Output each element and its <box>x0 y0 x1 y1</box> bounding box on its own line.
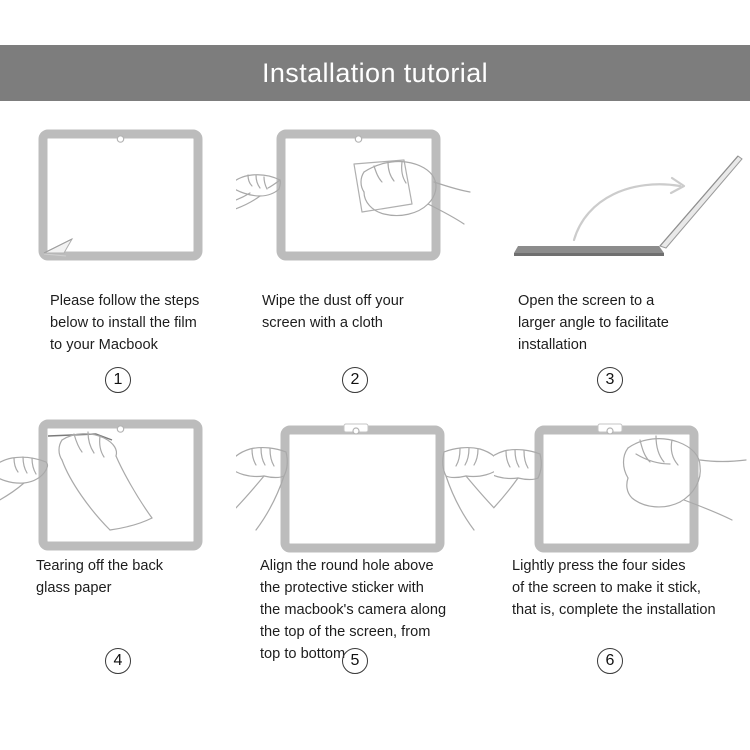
hand-pressing-film-onto-screen-icon <box>494 410 750 555</box>
tutorial-page: Installation tutorial Please follow the … <box>0 0 750 750</box>
laptop-side-view-opening-screen-icon <box>494 120 750 265</box>
step-5-illustration <box>236 410 494 550</box>
hands-wiping-screen-with-cloth-icon <box>236 120 494 265</box>
step-card-6: Lightly press the four sides of the scre… <box>494 402 750 697</box>
tablet-with-peeling-film-corner-icon <box>0 120 236 265</box>
step-3-illustration <box>494 120 750 260</box>
step-4-number: 4 <box>105 648 131 674</box>
step-1-illustration <box>0 120 236 260</box>
step-2-number: 2 <box>342 367 368 393</box>
steps-grid: Please follow the steps below to install… <box>0 112 750 697</box>
step-card-2: Wipe the dust off your screen with a clo… <box>236 112 494 402</box>
step-5-number: 5 <box>342 648 368 674</box>
step-card-3: Open the screen to a larger angle to fac… <box>494 112 750 402</box>
step-4-caption: Tearing off the back glass paper <box>36 555 163 599</box>
step-card-1: Please follow the steps below to install… <box>0 112 236 402</box>
step-card-4: Tearing off the back glass paper 4 <box>0 402 236 697</box>
step-6-caption: Lightly press the four sides of the scre… <box>512 555 716 621</box>
step-1-number: 1 <box>105 367 131 393</box>
header-banner: Installation tutorial <box>0 45 750 101</box>
two-hands-aligning-film-on-screen-icon <box>236 410 494 555</box>
step-6-number: 6 <box>597 648 623 674</box>
step-3-number: 3 <box>597 367 623 393</box>
page-title: Installation tutorial <box>262 60 488 87</box>
step-2-illustration <box>236 120 494 260</box>
step-6-illustration <box>494 410 750 550</box>
step-2-caption: Wipe the dust off your screen with a clo… <box>262 290 404 334</box>
step-1-caption: Please follow the steps below to install… <box>50 290 199 356</box>
step-3-caption: Open the screen to a larger angle to fac… <box>518 290 669 356</box>
hand-tearing-back-paper-from-screen-icon <box>0 410 236 555</box>
step-card-5: Align the round hole above the protectiv… <box>236 402 494 697</box>
step-4-illustration <box>0 410 236 550</box>
